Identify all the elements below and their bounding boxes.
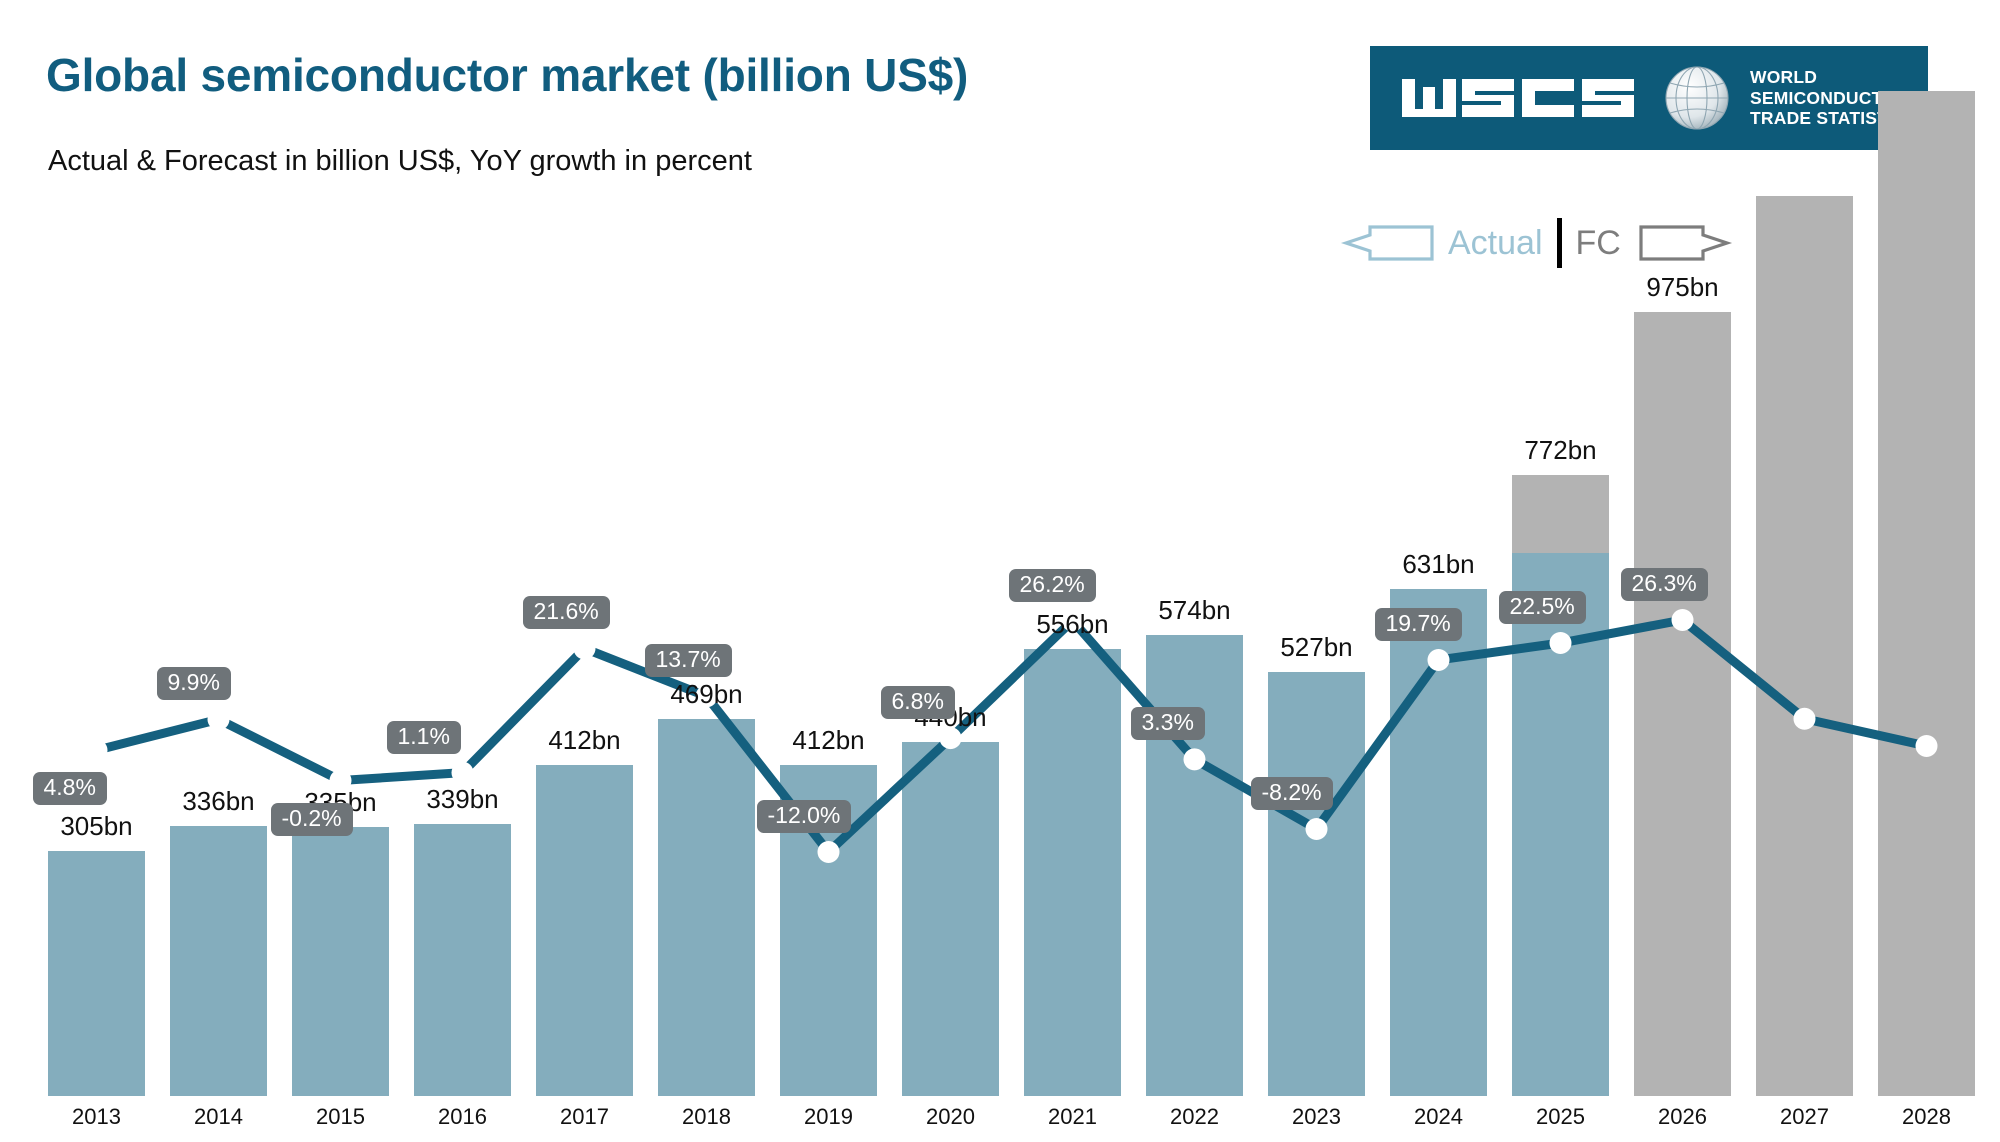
x-axis-label-2024: 2024 bbox=[1370, 1104, 1507, 1130]
x-axis-label-2016: 2016 bbox=[394, 1104, 531, 1130]
bar-value-label-2022: 574bn bbox=[1121, 595, 1268, 626]
bar-2027 bbox=[1756, 196, 1853, 1096]
bar-2028 bbox=[1878, 91, 1975, 1096]
bar-2015 bbox=[292, 827, 389, 1096]
yoy-marker-2013 bbox=[86, 739, 108, 761]
yoy-growth-badge-2018: 13.7% bbox=[645, 644, 732, 677]
x-axis-label-2027: 2027 bbox=[1736, 1104, 1873, 1130]
yoy-marker-2017 bbox=[574, 637, 596, 659]
bar-2016 bbox=[414, 824, 511, 1096]
bar-value-label-2024: 631bn bbox=[1365, 549, 1512, 580]
x-axis-label-2013: 2013 bbox=[28, 1104, 165, 1130]
x-axis-label-2018: 2018 bbox=[638, 1104, 775, 1130]
yoy-growth-badge-2023: -8.2% bbox=[1251, 777, 1333, 810]
yoy-growth-badge-2020: 6.8% bbox=[881, 686, 955, 719]
yoy-growth-badge-2017: 21.6% bbox=[523, 596, 610, 629]
bar-value-label-2026: 975bn bbox=[1609, 272, 1756, 303]
x-axis-label-2017: 2017 bbox=[516, 1104, 653, 1130]
bar-value-label-2017: 412bn bbox=[511, 725, 658, 756]
x-axis-label-2028: 2028 bbox=[1858, 1104, 1995, 1130]
bar-2024 bbox=[1390, 589, 1487, 1096]
bar-2021 bbox=[1024, 649, 1121, 1096]
yoy-growth-badge-2014: 9.9% bbox=[157, 667, 231, 700]
bar-2018 bbox=[658, 719, 755, 1096]
yoy-growth-badge-2013: 4.8% bbox=[33, 772, 107, 805]
yoy-growth-badge-2015: -0.2% bbox=[271, 803, 353, 836]
chart-plot-area: 305bn2013336bn2014335bn2015339bn2016412b… bbox=[0, 0, 2000, 1142]
bar-2013 bbox=[48, 851, 145, 1096]
bar-2025-actual-segment bbox=[1512, 553, 1609, 1096]
bar-2022 bbox=[1146, 635, 1243, 1096]
bar-2023 bbox=[1268, 672, 1365, 1096]
x-axis-label-2022: 2022 bbox=[1126, 1104, 1263, 1130]
bar-value-label-2025: 772bn bbox=[1487, 435, 1634, 466]
bar-2025-forecast-segment bbox=[1512, 475, 1609, 553]
yoy-marker-2016 bbox=[452, 762, 474, 784]
x-axis-label-2014: 2014 bbox=[150, 1104, 287, 1130]
yoy-marker-2014 bbox=[208, 708, 230, 730]
yoy-growth-badge-2022: 3.3% bbox=[1131, 707, 1205, 740]
bar-2026 bbox=[1634, 312, 1731, 1096]
bar-value-label-2018: 469bn bbox=[633, 679, 780, 710]
x-axis-label-2025: 2025 bbox=[1492, 1104, 1629, 1130]
bar-value-label-2016: 339bn bbox=[389, 784, 536, 815]
x-axis-label-2020: 2020 bbox=[882, 1104, 1019, 1130]
yoy-growth-badge-2021: 26.2% bbox=[1009, 569, 1096, 602]
x-axis-label-2019: 2019 bbox=[760, 1104, 897, 1130]
x-axis-label-2026: 2026 bbox=[1614, 1104, 1751, 1130]
bar-value-label-2023: 527bn bbox=[1243, 632, 1390, 663]
yoy-growth-badge-2019: -12.0% bbox=[757, 800, 852, 833]
bar-2014 bbox=[170, 826, 267, 1096]
x-axis-label-2021: 2021 bbox=[1004, 1104, 1141, 1130]
bar-2020 bbox=[902, 742, 999, 1096]
yoy-growth-badge-2016: 1.1% bbox=[387, 721, 461, 754]
yoy-growth-badge-2025: 22.5% bbox=[1499, 591, 1586, 624]
x-axis-label-2023: 2023 bbox=[1248, 1104, 1385, 1130]
yoy-growth-badge-2024: 19.7% bbox=[1375, 608, 1462, 641]
x-axis-label-2015: 2015 bbox=[272, 1104, 409, 1130]
bar-2017 bbox=[536, 765, 633, 1096]
yoy-growth-badge-2026: 26.3% bbox=[1621, 568, 1708, 601]
